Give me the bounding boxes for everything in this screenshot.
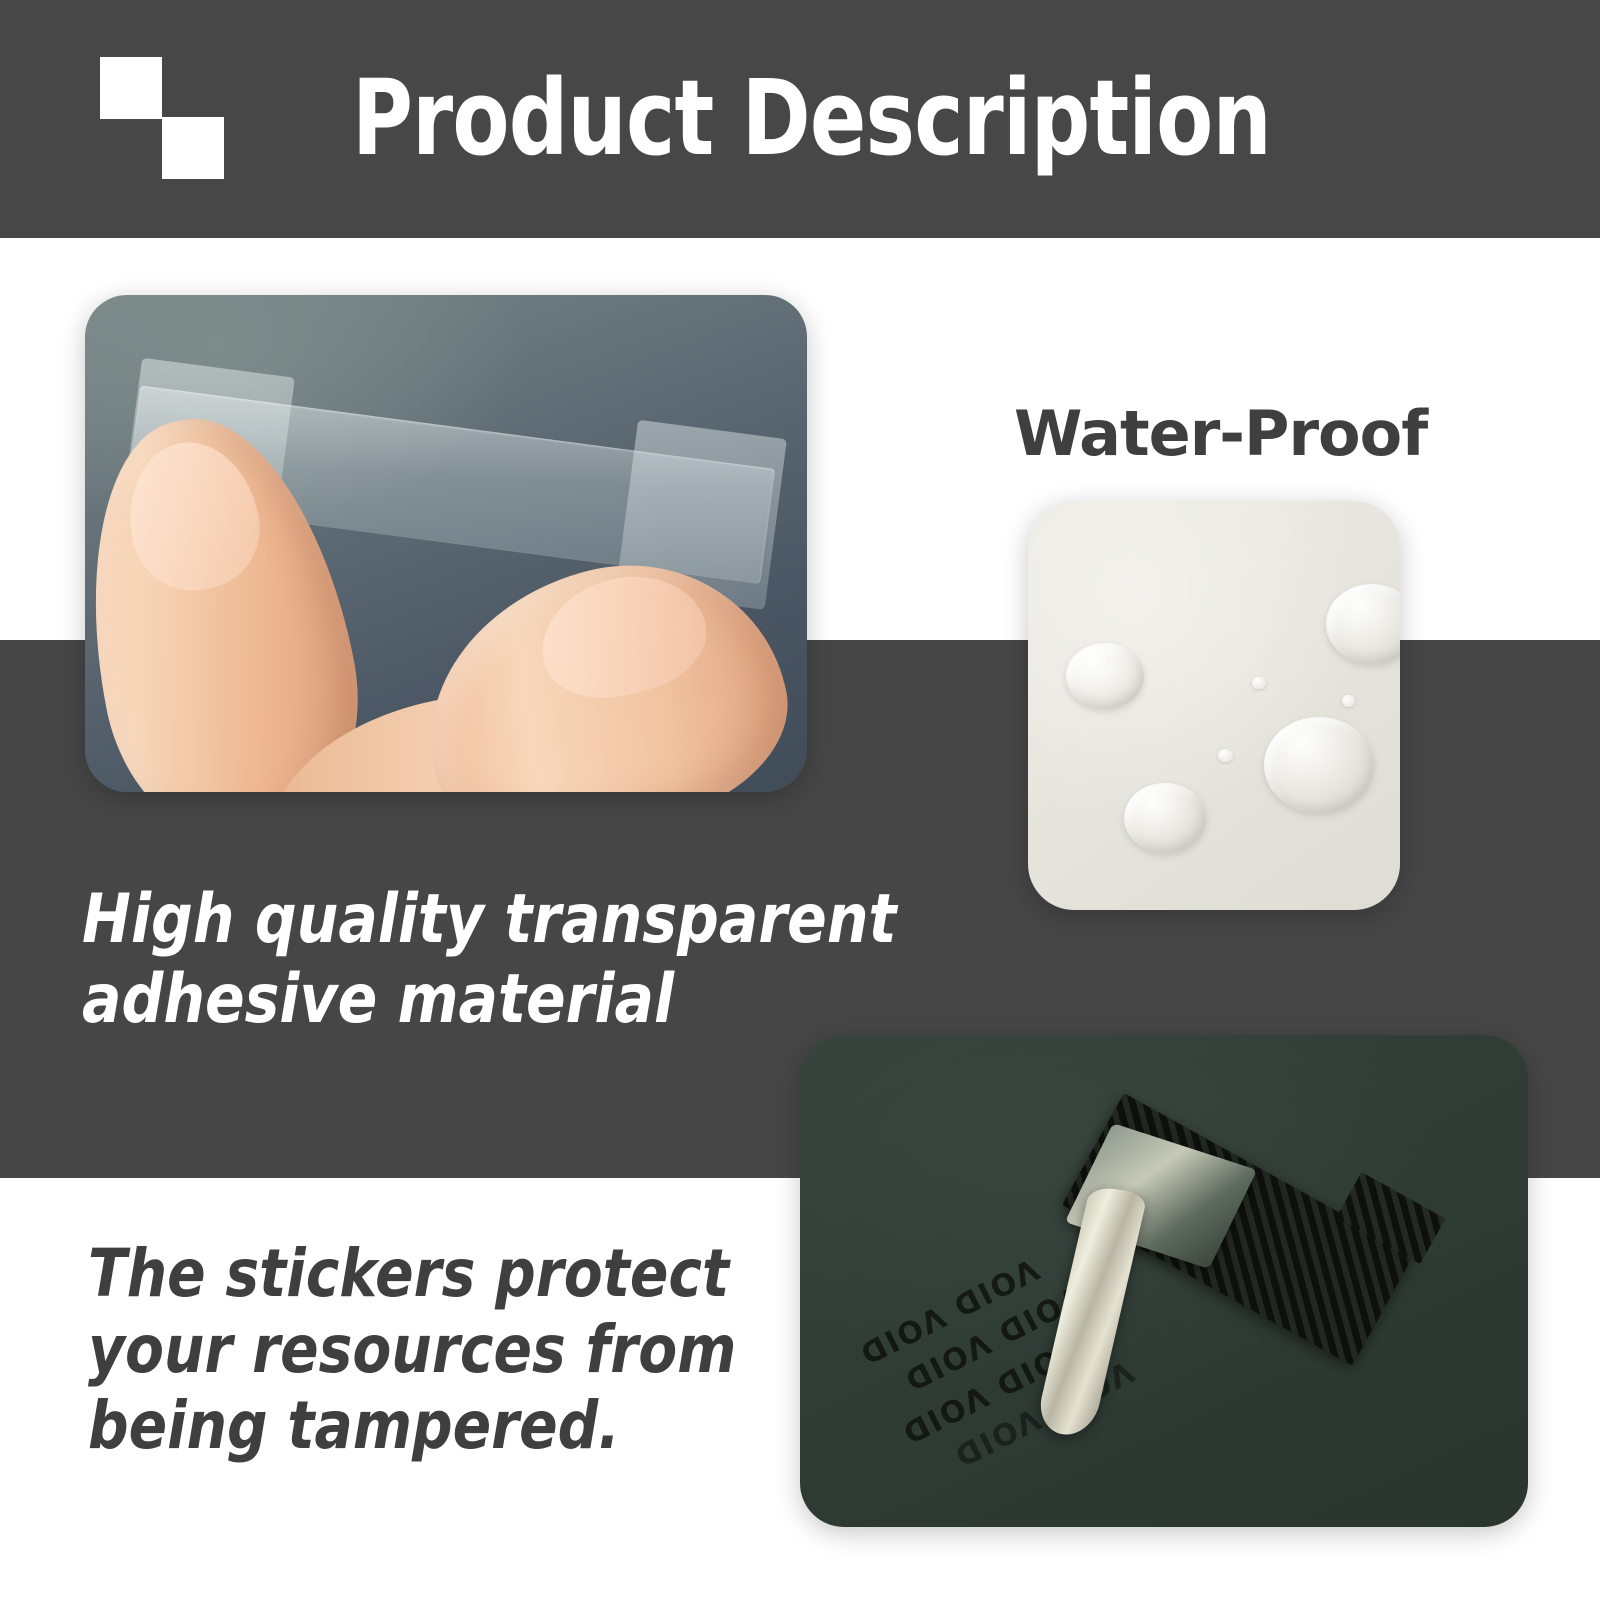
water-droplet — [1264, 717, 1374, 813]
water-droplet — [1066, 643, 1144, 709]
feature-image-transparent-material — [85, 295, 807, 792]
void-sticker-strip-tab — [1336, 1172, 1445, 1264]
water-droplet-small — [1252, 677, 1266, 689]
page-title: Product Description — [352, 62, 1271, 174]
logo-square-bottom-right — [162, 117, 224, 179]
caption-line-1: High quality transparent — [82, 880, 856, 960]
caption-transparent-material: High quality transparent adhesive materi… — [82, 880, 856, 1040]
fingernail-upper — [116, 431, 270, 601]
water-droplet-small — [1342, 695, 1355, 707]
water-droplet — [1124, 783, 1206, 853]
feature-image-water-proof — [1028, 501, 1400, 910]
caption-line-1: The stickers protect — [88, 1236, 742, 1312]
feature-image-tamper-evident: VOID VOID VOID VOID VOID VOID VOID VOID — [800, 1035, 1528, 1527]
caption-water-proof: Water-Proof — [1014, 398, 1427, 470]
caption-line-2: adhesive material — [82, 960, 856, 1040]
caption-tamper-evident: The stickers protect your resources from… — [88, 1236, 742, 1464]
water-droplet-small — [1218, 749, 1233, 762]
caption-line-2: your resources from — [88, 1312, 742, 1388]
two-squares-logo-icon — [100, 57, 224, 179]
caption-line-3: being tampered. — [88, 1388, 742, 1464]
fingernail-lower — [529, 560, 718, 713]
header-band: Product Description — [0, 0, 1600, 238]
water-droplet — [1326, 584, 1400, 664]
logo-square-top-left — [100, 57, 162, 119]
